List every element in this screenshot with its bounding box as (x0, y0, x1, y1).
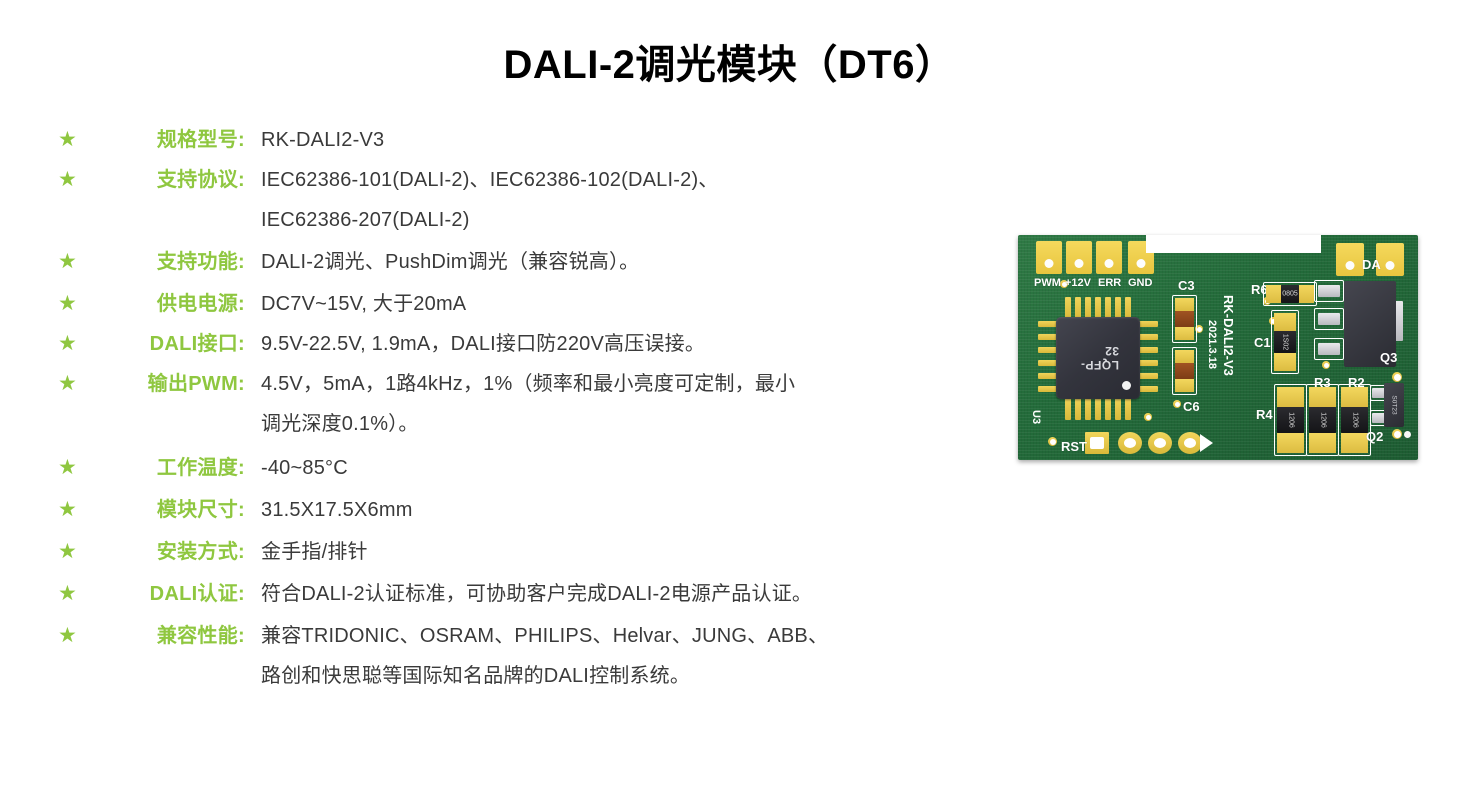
component-r2: 1206 (1341, 387, 1368, 453)
spec-value: 符合DALI-2认证标准，可协助客户完成DALI-2电源产品认证。 (245, 578, 985, 610)
silk-err: ERR (1098, 277, 1121, 289)
silk-pwm: PWM (1034, 277, 1061, 289)
spec-row-power: ★ 供电电源: DC7V~15V, 大于20mA (55, 288, 985, 320)
qfp-chip-label: LQFP-32 (1077, 344, 1119, 372)
component-code-cap: 1S02 (1282, 334, 1289, 350)
star-icon: ★ (55, 578, 95, 610)
via-c6 (1173, 400, 1181, 408)
spec-value-line2: 路创和快思聪等国际知名品牌的DALI控制系统。 (261, 660, 985, 692)
component-c3 (1175, 298, 1194, 340)
spec-value-line2: 调光深度0.1%）。 (261, 408, 985, 440)
spec-value: 9.5V-22.5V, 1.9mA，DALI接口防220V高压误接。 (245, 328, 985, 360)
spec-value: -40~85°C (245, 452, 985, 484)
spec-value: 4.5V，5mA，1路4kHz，1%（频率和最小亮度可定制，最小 调光深度0.1… (245, 368, 985, 440)
component-code-1206: 1206 (1319, 412, 1326, 428)
spec-value-line1: IEC62386-101(DALI-2)、IEC62386-102(DALI-2… (261, 169, 719, 191)
star-icon: ★ (55, 124, 95, 156)
pad-12v (1066, 241, 1092, 274)
star-icon: ★ (55, 164, 95, 196)
spec-row-mounting: ★ 安装方式: 金手指/排针 (55, 536, 985, 568)
via-mid (1322, 361, 1330, 369)
spec-row-dimensions: ★ 模块尺寸: 31.5X17.5X6mm (55, 494, 985, 526)
spec-value: 金手指/排针 (245, 536, 985, 568)
spec-label: DALI接口: (95, 328, 245, 360)
via-u3 (1048, 437, 1057, 446)
star-icon: ★ (55, 246, 95, 278)
spec-label: 支持功能: (95, 246, 245, 278)
pad-da-1 (1336, 243, 1364, 276)
spec-label: 工作温度: (95, 452, 245, 484)
silk-r4: R4 (1256, 407, 1273, 422)
component-q2: S0T23 (1384, 383, 1404, 427)
spec-row-model: ★ 规格型号: RK-DALI2-V3 (55, 124, 985, 156)
component-r6: 0805 (1266, 285, 1314, 303)
silk-rst: RST (1061, 439, 1087, 454)
silk-c3: C3 (1178, 278, 1195, 293)
spec-row-pwm-output: ★ 输出PWM: 4.5V，5mA，1路4kHz，1%（频率和最小亮度可定制，最… (55, 368, 985, 440)
spec-value: DC7V~15V, 大于20mA (245, 288, 985, 320)
spec-value: 兼容TRIDONIC、OSRAM、PHILIPS、Helvar、JUNG、ABB… (245, 620, 985, 692)
component-code-1206: 1206 (1287, 412, 1294, 428)
spec-label: 供电电源: (95, 288, 245, 320)
silk-gnd: GND (1128, 277, 1152, 289)
star-icon: ★ (55, 452, 95, 484)
spec-value-line2: IEC62386-207(DALI-2) (261, 204, 985, 236)
component-c6 (1175, 350, 1194, 392)
q3-pin-1 (1318, 285, 1340, 297)
through-hole-1 (1118, 432, 1142, 454)
spec-label: 安装方式: (95, 536, 245, 568)
via-q2-bottom (1392, 429, 1402, 439)
component-code-1206: 1206 (1351, 412, 1358, 428)
via-q2-dot (1404, 431, 1411, 438)
spec-value: IEC62386-101(DALI-2)、IEC62386-102(DALI-2… (245, 164, 985, 236)
page-title: DALI-2调光模块（DT6） (0, 32, 1459, 90)
spec-value-line1: 兼容TRIDONIC、OSRAM、PHILIPS、Helvar、JUNG、ABB… (261, 625, 828, 647)
via-q2-top (1392, 372, 1402, 382)
star-icon: ★ (55, 620, 95, 652)
via-bottom (1144, 413, 1152, 421)
spec-row-compatibility: ★ 兼容性能: 兼容TRIDONIC、OSRAM、PHILIPS、Helvar、… (55, 620, 985, 692)
polarity-triangle-icon (1200, 434, 1213, 452)
qfp-chip: LQFP-32 (1056, 317, 1140, 399)
silk-board-name: RK-DALI2-V3 (1221, 295, 1236, 376)
spec-label: DALI认证: (95, 578, 245, 610)
spec-label: 模块尺寸: (95, 494, 245, 526)
component-r4: 1206 (1277, 387, 1304, 453)
through-hole-2 (1148, 432, 1172, 454)
spec-label: 支持协议: (95, 164, 245, 196)
spec-value-line1: 4.5V，5mA，1路4kHz，1%（频率和最小亮度可定制，最小 (261, 373, 795, 395)
component-c1: 1S02 (1274, 313, 1296, 371)
star-icon: ★ (55, 368, 95, 400)
pcb-module-image: PWM +12V ERR GND DA (1018, 235, 1418, 460)
star-icon: ★ (55, 288, 95, 320)
component-code-0805: 0805 (1282, 291, 1298, 298)
q3-pin-2 (1318, 313, 1340, 325)
qfp-pin1-marker (1122, 381, 1131, 390)
through-hole-3 (1178, 432, 1202, 454)
pcb-notch (1146, 235, 1321, 253)
pad-pwm (1036, 241, 1062, 274)
spec-row-function: ★ 支持功能: DALI-2调光、PushDim调光（兼容锐高）。 (55, 246, 985, 278)
component-code-sot: S0T23 (1391, 395, 1398, 414)
spec-row-dali-interface: ★ DALI接口: 9.5V-22.5V, 1.9mA，DALI接口防220V高… (55, 328, 985, 360)
spec-value: RK-DALI2-V3 (245, 124, 985, 156)
silk-u3: U3 (1030, 410, 1042, 424)
silk-c1: C1 (1254, 335, 1271, 350)
pad-rst (1085, 432, 1109, 454)
product-spec-page: DALI-2调光模块（DT6） ★ 规格型号: RK-DALI2-V3 ★ 支持… (0, 0, 1459, 792)
silk-da: DA (1362, 257, 1381, 272)
silk-q2: Q2 (1366, 429, 1383, 444)
star-icon: ★ (55, 536, 95, 568)
spec-row-protocol: ★ 支持协议: IEC62386-101(DALI-2)、IEC62386-10… (55, 164, 985, 236)
silk-q3: Q3 (1380, 350, 1397, 365)
component-r3: 1206 (1309, 387, 1336, 453)
star-icon: ★ (55, 328, 95, 360)
spec-value: DALI-2调光、PushDim调光（兼容锐高）。 (245, 246, 985, 278)
pcb-substrate: PWM +12V ERR GND DA (1018, 235, 1418, 460)
spec-value: 31.5X17.5X6mm (245, 494, 985, 526)
spec-label: 规格型号: (95, 124, 245, 156)
silk-12v: +12V (1065, 277, 1091, 289)
spec-row-temperature: ★ 工作温度: -40~85°C (55, 452, 985, 484)
q3-pin-3 (1318, 343, 1340, 355)
pad-err (1096, 241, 1122, 274)
spec-label: 输出PWM: (95, 368, 245, 400)
spec-row-certification: ★ DALI认证: 符合DALI-2认证标准，可协助客户完成DALI-2电源产品… (55, 578, 985, 610)
specification-list: ★ 规格型号: RK-DALI2-V3 ★ 支持协议: IEC62386-101… (55, 124, 985, 700)
star-icon: ★ (55, 494, 95, 526)
spec-label: 兼容性能: (95, 620, 245, 652)
silk-board-date: 2021.3.18 (1206, 320, 1218, 369)
silk-c6: C6 (1183, 399, 1200, 414)
